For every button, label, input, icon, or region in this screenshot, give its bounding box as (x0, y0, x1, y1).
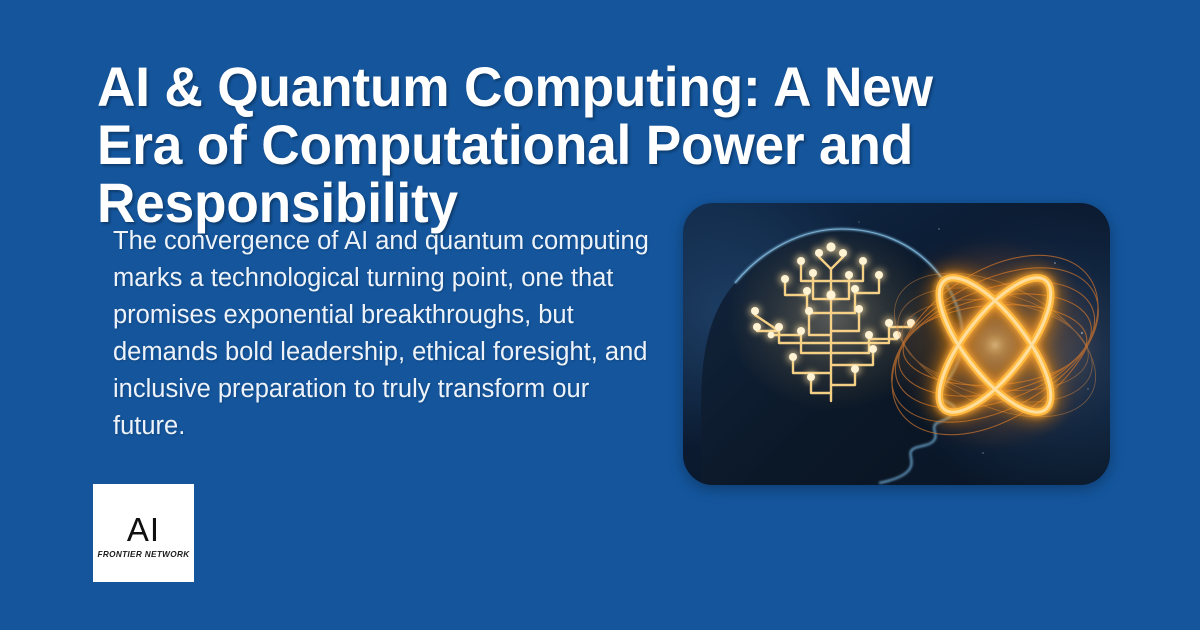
logo-mark-text: AI (127, 513, 160, 547)
brand-logo: AI FRONTIER NETWORK (93, 484, 194, 582)
hero-illustration (683, 203, 1110, 485)
social-share-banner: AI & Quantum Computing: A New Era of Com… (0, 0, 1200, 630)
summary-text: The convergence of AI and quantum comput… (113, 223, 665, 445)
logo-wordmark-text: FRONTIER NETWORK (97, 550, 189, 560)
atom-nucleus-glow (969, 319, 1021, 371)
ai-quantum-illustration-svg (683, 203, 1110, 485)
